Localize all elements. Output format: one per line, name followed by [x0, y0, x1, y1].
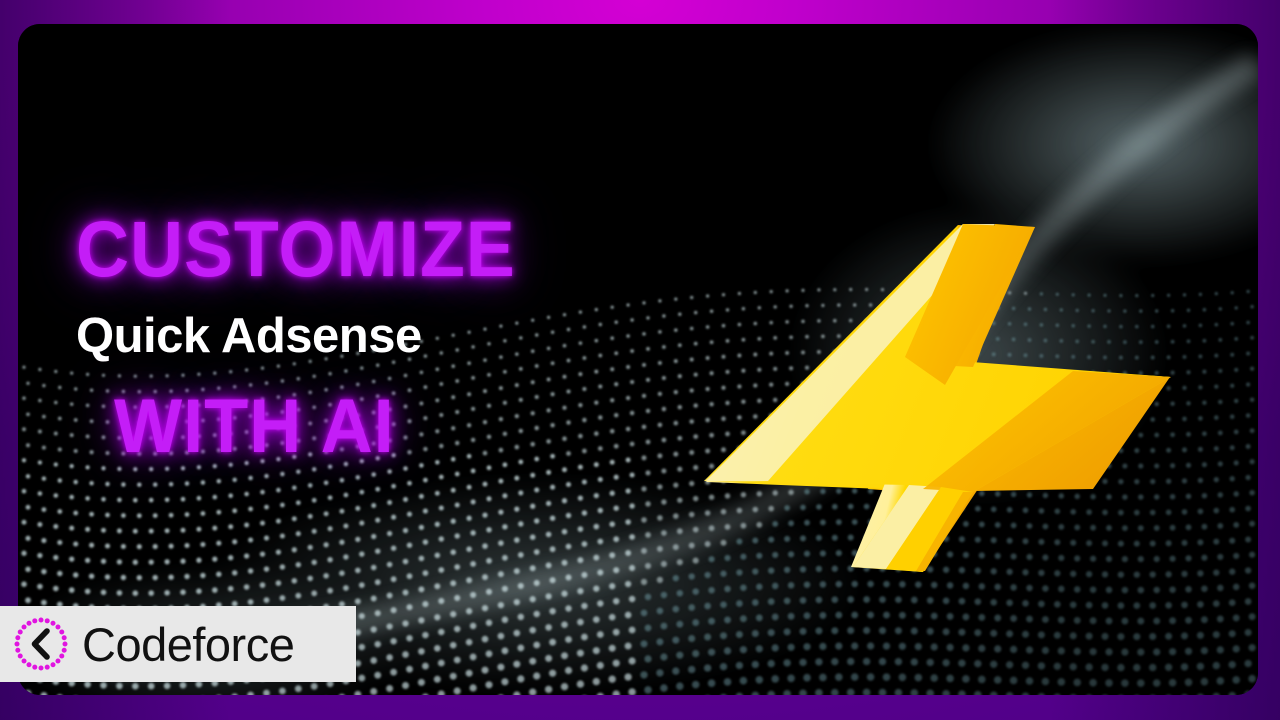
headline-line-1: CUSTOMIZE	[76, 209, 671, 288]
headline-line-2: Quick Adsense	[76, 312, 716, 361]
headline-line-3: WITH AI	[114, 389, 686, 465]
lightning-bolt-graphic	[673, 189, 1193, 589]
brand-logo-bar: Codeforce	[0, 606, 356, 682]
brand-name: Codeforce	[82, 617, 294, 672]
chevron-left-dotted-circle-icon	[10, 613, 72, 675]
lightning-bolt-icon	[673, 189, 1193, 589]
inner-panel: CUSTOMIZE Quick Adsense WITH AI	[18, 24, 1258, 695]
thumbnail-frame: CUSTOMIZE Quick Adsense WITH AI Codeforc…	[0, 0, 1280, 720]
headline-block: CUSTOMIZE Quick Adsense WITH AI	[76, 209, 716, 465]
